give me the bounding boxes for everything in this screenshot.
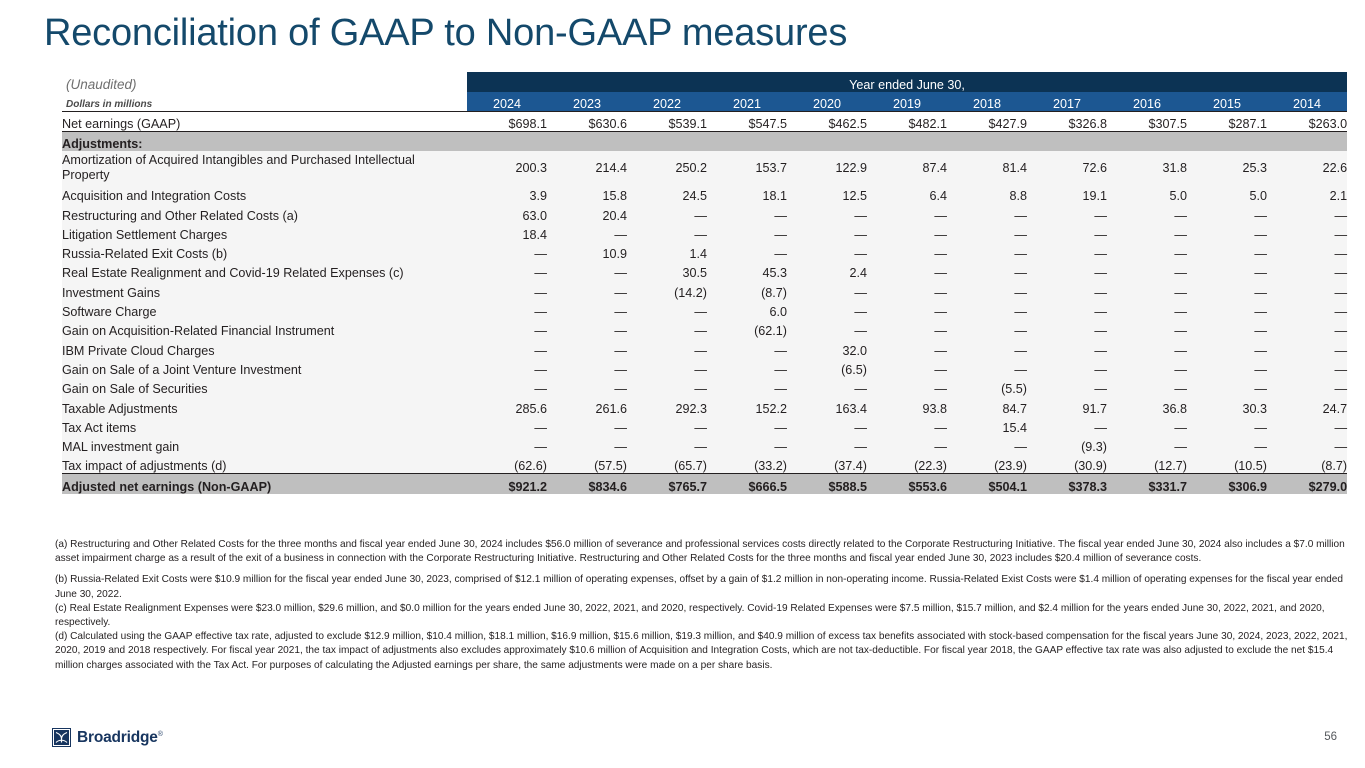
year-ended-header: Year ended June 30, bbox=[467, 72, 1347, 92]
page-title: Reconciliation of GAAP to Non-GAAP measu… bbox=[44, 12, 847, 55]
cell-2020: — bbox=[787, 300, 867, 319]
cell-2023: — bbox=[547, 319, 627, 338]
row-label: Software Charge bbox=[62, 300, 467, 319]
cell-2016: — bbox=[1107, 358, 1187, 377]
cell-2020: — bbox=[787, 203, 867, 222]
cell-2017: (30.9) bbox=[1027, 454, 1107, 474]
row-label: Investment Gains bbox=[62, 280, 467, 299]
cell-2024: — bbox=[467, 416, 547, 435]
table-row: MAL investment gain———————(9.3)——— bbox=[62, 435, 1347, 454]
cell-2024: — bbox=[467, 280, 547, 299]
cell-2017: — bbox=[1027, 223, 1107, 242]
cell-2018: (5.5) bbox=[947, 377, 1027, 396]
cell-2014: — bbox=[1267, 319, 1347, 338]
cell-2022: — bbox=[627, 319, 707, 338]
cell-2023: — bbox=[547, 435, 627, 454]
table-row: Amortization of Acquired Intangibles and… bbox=[62, 151, 1347, 184]
cell-2018: — bbox=[947, 261, 1027, 280]
cell-2024: 285.6 bbox=[467, 396, 547, 415]
cell-2024: 18.4 bbox=[467, 223, 547, 242]
cell-2023: — bbox=[547, 377, 627, 396]
cell-2019: — bbox=[867, 338, 947, 357]
table-row: Adjusted net earnings (Non-GAAP)$921.2$8… bbox=[62, 474, 1347, 495]
cell-2024: — bbox=[467, 377, 547, 396]
cell-2016: $331.7 bbox=[1107, 474, 1187, 495]
cell-2015: — bbox=[1187, 319, 1267, 338]
cell-2017: — bbox=[1027, 280, 1107, 299]
cell-2019: (22.3) bbox=[867, 454, 947, 474]
cell-2019: — bbox=[867, 223, 947, 242]
cell-2014: — bbox=[1267, 416, 1347, 435]
table-row: Adjustments: bbox=[62, 132, 1347, 152]
cell-2022: (65.7) bbox=[627, 454, 707, 474]
dollars-meta-cell: Dollars in millions bbox=[62, 92, 467, 112]
table-row: Restructuring and Other Related Costs (a… bbox=[62, 203, 1347, 222]
cell-2015: 25.3 bbox=[1187, 151, 1267, 184]
table-row: Russia-Related Exit Costs (b)—10.91.4———… bbox=[62, 242, 1347, 261]
cell-2020: 163.4 bbox=[787, 396, 867, 415]
cell-2018: 8.8 bbox=[947, 184, 1027, 203]
row-label: IBM Private Cloud Charges bbox=[62, 338, 467, 357]
cell-2020: — bbox=[787, 416, 867, 435]
table-row: Gain on Acquisition-Related Financial In… bbox=[62, 319, 1347, 338]
cell-2016: — bbox=[1107, 223, 1187, 242]
row-label: Restructuring and Other Related Costs (a… bbox=[62, 203, 467, 222]
cell-2014: — bbox=[1267, 338, 1347, 357]
cell-2024: — bbox=[467, 242, 547, 261]
cell-2019: — bbox=[867, 261, 947, 280]
cell-2020: $462.5 bbox=[787, 112, 867, 132]
cell-2022: 292.3 bbox=[627, 396, 707, 415]
cell-2017: 91.7 bbox=[1027, 396, 1107, 415]
cell-2022 bbox=[627, 132, 707, 152]
cell-2021: 152.2 bbox=[707, 396, 787, 415]
cell-2014: — bbox=[1267, 242, 1347, 261]
cell-2016 bbox=[1107, 132, 1187, 152]
cell-2017: 72.6 bbox=[1027, 151, 1107, 184]
table-row: Net earnings (GAAP)$698.1$630.6$539.1$54… bbox=[62, 112, 1347, 132]
cell-2024: $921.2 bbox=[467, 474, 547, 495]
cell-2021: — bbox=[707, 242, 787, 261]
year-header-2024: 2024 bbox=[467, 92, 547, 112]
cell-2022: 250.2 bbox=[627, 151, 707, 184]
cell-2018: — bbox=[947, 242, 1027, 261]
cell-2015: (10.5) bbox=[1187, 454, 1267, 474]
cell-2016: 31.8 bbox=[1107, 151, 1187, 184]
footnote-c: (c) Real Estate Realignment Expenses wer… bbox=[55, 602, 1350, 630]
broadridge-wordmark: Broadridge® bbox=[77, 729, 163, 747]
table-row: Real Estate Realignment and Covid-19 Rel… bbox=[62, 261, 1347, 280]
slide-root: Reconciliation of GAAP to Non-GAAP measu… bbox=[0, 0, 1365, 768]
cell-2018: $427.9 bbox=[947, 112, 1027, 132]
cell-2023: 261.6 bbox=[547, 396, 627, 415]
broadridge-mark-icon bbox=[52, 728, 71, 747]
table-row: Gain on Sale of a Joint Venture Investme… bbox=[62, 358, 1347, 377]
cell-2018: 84.7 bbox=[947, 396, 1027, 415]
broadridge-logo: Broadridge® bbox=[52, 728, 163, 747]
cell-2021: 153.7 bbox=[707, 151, 787, 184]
cell-2021: (33.2) bbox=[707, 454, 787, 474]
cell-2014: 24.7 bbox=[1267, 396, 1347, 415]
year-header-2019: 2019 bbox=[867, 92, 947, 112]
cell-2014 bbox=[1267, 132, 1347, 152]
cell-2020: — bbox=[787, 435, 867, 454]
year-header-2021: 2021 bbox=[707, 92, 787, 112]
reconciliation-table-container: (Unaudited) Year ended June 30, Dollars … bbox=[62, 72, 1347, 494]
cell-2024: 200.3 bbox=[467, 151, 547, 184]
cell-2015: $287.1 bbox=[1187, 112, 1267, 132]
cell-2017: — bbox=[1027, 319, 1107, 338]
cell-2019: 87.4 bbox=[867, 151, 947, 184]
cell-2014: — bbox=[1267, 203, 1347, 222]
cell-2016: — bbox=[1107, 377, 1187, 396]
cell-2015: — bbox=[1187, 203, 1267, 222]
cell-2023: — bbox=[547, 223, 627, 242]
cell-2015: — bbox=[1187, 261, 1267, 280]
table-row: Acquisition and Integration Costs3.915.8… bbox=[62, 184, 1347, 203]
cell-2021: — bbox=[707, 435, 787, 454]
cell-2017: — bbox=[1027, 358, 1107, 377]
cell-2023: — bbox=[547, 338, 627, 357]
cell-2020: $588.5 bbox=[787, 474, 867, 495]
cell-2020: — bbox=[787, 242, 867, 261]
cell-2021: — bbox=[707, 338, 787, 357]
cell-2015: — bbox=[1187, 242, 1267, 261]
cell-2022: — bbox=[627, 416, 707, 435]
table-row: Tax impact of adjustments (d)(62.6)(57.5… bbox=[62, 454, 1347, 474]
cell-2023: — bbox=[547, 280, 627, 299]
cell-2023: 20.4 bbox=[547, 203, 627, 222]
row-label: Amortization of Acquired Intangibles and… bbox=[62, 151, 467, 184]
cell-2024 bbox=[467, 132, 547, 152]
cell-2021: $666.5 bbox=[707, 474, 787, 495]
cell-2015 bbox=[1187, 132, 1267, 152]
table-header-years-row: Dollars in millions 2024 2023 2022 2021 … bbox=[62, 92, 1347, 112]
cell-2021: — bbox=[707, 358, 787, 377]
year-header-2015: 2015 bbox=[1187, 92, 1267, 112]
cell-2014: — bbox=[1267, 358, 1347, 377]
table-row: Investment Gains——(14.2)(8.7)——————— bbox=[62, 280, 1347, 299]
cell-2022: — bbox=[627, 358, 707, 377]
cell-2019: — bbox=[867, 242, 947, 261]
cell-2016: (12.7) bbox=[1107, 454, 1187, 474]
cell-2018: — bbox=[947, 435, 1027, 454]
cell-2015: 5.0 bbox=[1187, 184, 1267, 203]
cell-2014: — bbox=[1267, 300, 1347, 319]
table-header-span-row: (Unaudited) Year ended June 30, bbox=[62, 72, 1347, 92]
cell-2018: 15.4 bbox=[947, 416, 1027, 435]
table-row: Gain on Sale of Securities——————(5.5)———… bbox=[62, 377, 1347, 396]
cell-2021: — bbox=[707, 203, 787, 222]
row-label: Acquisition and Integration Costs bbox=[62, 184, 467, 203]
cell-2015: — bbox=[1187, 377, 1267, 396]
row-label: Tax Act items bbox=[62, 416, 467, 435]
cell-2016: — bbox=[1107, 416, 1187, 435]
dollars-in-millions-label: Dollars in millions bbox=[62, 98, 467, 111]
cell-2019: 6.4 bbox=[867, 184, 947, 203]
cell-2018: — bbox=[947, 300, 1027, 319]
unaudited-meta-cell: (Unaudited) bbox=[62, 72, 467, 92]
cell-2019: 93.8 bbox=[867, 396, 947, 415]
cell-2017: — bbox=[1027, 203, 1107, 222]
cell-2020: 2.4 bbox=[787, 261, 867, 280]
footnote-a: (a) Restructuring and Other Related Cost… bbox=[55, 538, 1350, 566]
cell-2023: 10.9 bbox=[547, 242, 627, 261]
row-label: Russia-Related Exit Costs (b) bbox=[62, 242, 467, 261]
table-row: IBM Private Cloud Charges————32.0—————— bbox=[62, 338, 1347, 357]
cell-2015: — bbox=[1187, 223, 1267, 242]
cell-2016: — bbox=[1107, 300, 1187, 319]
cell-2020: 122.9 bbox=[787, 151, 867, 184]
cell-2017: 19.1 bbox=[1027, 184, 1107, 203]
row-label: Litigation Settlement Charges bbox=[62, 223, 467, 242]
cell-2015: — bbox=[1187, 416, 1267, 435]
page-number: 56 bbox=[1324, 731, 1337, 743]
table-body: (Unaudited) Year ended June 30, Dollars … bbox=[62, 72, 1347, 494]
cell-2016: — bbox=[1107, 261, 1187, 280]
cell-2017: — bbox=[1027, 261, 1107, 280]
cell-2016: — bbox=[1107, 435, 1187, 454]
row-label: Gain on Acquisition-Related Financial In… bbox=[62, 319, 467, 338]
cell-2014: 22.6 bbox=[1267, 151, 1347, 184]
row-label: Gain on Sale of a Joint Venture Investme… bbox=[62, 358, 467, 377]
cell-2020: (37.4) bbox=[787, 454, 867, 474]
footnotes-block: (a) Restructuring and Other Related Cost… bbox=[55, 538, 1350, 673]
cell-2014: — bbox=[1267, 377, 1347, 396]
cell-2020: — bbox=[787, 319, 867, 338]
cell-2021: 18.1 bbox=[707, 184, 787, 203]
cell-2018: 81.4 bbox=[947, 151, 1027, 184]
row-label: MAL investment gain bbox=[62, 435, 467, 454]
year-header-2016: 2016 bbox=[1107, 92, 1187, 112]
cell-2024: 63.0 bbox=[467, 203, 547, 222]
cell-2017: (9.3) bbox=[1027, 435, 1107, 454]
cell-2020: — bbox=[787, 377, 867, 396]
cell-2019: — bbox=[867, 300, 947, 319]
cell-2014: (8.7) bbox=[1267, 454, 1347, 474]
cell-2015: — bbox=[1187, 280, 1267, 299]
cell-2018: — bbox=[947, 203, 1027, 222]
cell-2020: 32.0 bbox=[787, 338, 867, 357]
cell-2015: — bbox=[1187, 435, 1267, 454]
year-header-2020: 2020 bbox=[787, 92, 867, 112]
cell-2024: — bbox=[467, 261, 547, 280]
row-label: Adjusted net earnings (Non-GAAP) bbox=[62, 474, 467, 495]
cell-2016: $307.5 bbox=[1107, 112, 1187, 132]
cell-2022: — bbox=[627, 435, 707, 454]
cell-2014: — bbox=[1267, 435, 1347, 454]
footnote-b: (b) Russia-Related Exit Costs were $10.9… bbox=[55, 573, 1350, 601]
cell-2020: (6.5) bbox=[787, 358, 867, 377]
cell-2023: (57.5) bbox=[547, 454, 627, 474]
cell-2023: — bbox=[547, 416, 627, 435]
cell-2015: $306.9 bbox=[1187, 474, 1267, 495]
year-header-2014: 2014 bbox=[1267, 92, 1347, 112]
cell-2020: — bbox=[787, 223, 867, 242]
year-header-2018: 2018 bbox=[947, 92, 1027, 112]
cell-2019: — bbox=[867, 435, 947, 454]
cell-2017: $378.3 bbox=[1027, 474, 1107, 495]
row-label: Taxable Adjustments bbox=[62, 396, 467, 415]
cell-2016: 5.0 bbox=[1107, 184, 1187, 203]
row-label: Adjustments: bbox=[62, 132, 467, 152]
cell-2015: 30.3 bbox=[1187, 396, 1267, 415]
cell-2016: 36.8 bbox=[1107, 396, 1187, 415]
cell-2014: — bbox=[1267, 261, 1347, 280]
cell-2019: — bbox=[867, 416, 947, 435]
table-row: Taxable Adjustments285.6261.6292.3152.21… bbox=[62, 396, 1347, 415]
registered-mark: ® bbox=[158, 730, 163, 737]
cell-2016: — bbox=[1107, 203, 1187, 222]
cell-2023: 15.8 bbox=[547, 184, 627, 203]
year-header-2017: 2017 bbox=[1027, 92, 1107, 112]
cell-2016: — bbox=[1107, 280, 1187, 299]
cell-2023: 214.4 bbox=[547, 151, 627, 184]
cell-2021: — bbox=[707, 223, 787, 242]
cell-2021: (8.7) bbox=[707, 280, 787, 299]
unaudited-label: (Unaudited) bbox=[62, 77, 467, 92]
year-header-2022: 2022 bbox=[627, 92, 707, 112]
row-label: Gain on Sale of Securities bbox=[62, 377, 467, 396]
cell-2017: — bbox=[1027, 377, 1107, 396]
cell-2024: — bbox=[467, 319, 547, 338]
cell-2015: — bbox=[1187, 300, 1267, 319]
cell-2021: 6.0 bbox=[707, 300, 787, 319]
cell-2019: $553.6 bbox=[867, 474, 947, 495]
cell-2020: 12.5 bbox=[787, 184, 867, 203]
cell-2019 bbox=[867, 132, 947, 152]
cell-2015: — bbox=[1187, 338, 1267, 357]
cell-2019: — bbox=[867, 319, 947, 338]
cell-2017: — bbox=[1027, 242, 1107, 261]
row-label: Real Estate Realignment and Covid-19 Rel… bbox=[62, 261, 467, 280]
cell-2014: — bbox=[1267, 223, 1347, 242]
cell-2018: (23.9) bbox=[947, 454, 1027, 474]
cell-2024: $698.1 bbox=[467, 112, 547, 132]
cell-2017 bbox=[1027, 132, 1107, 152]
cell-2021: — bbox=[707, 416, 787, 435]
cell-2023: — bbox=[547, 261, 627, 280]
cell-2014: — bbox=[1267, 280, 1347, 299]
cell-2019: — bbox=[867, 203, 947, 222]
cell-2015: — bbox=[1187, 358, 1267, 377]
cell-2021: (62.1) bbox=[707, 319, 787, 338]
cell-2014: $263.0 bbox=[1267, 112, 1347, 132]
cell-2023: — bbox=[547, 300, 627, 319]
cell-2018: — bbox=[947, 338, 1027, 357]
cell-2018: — bbox=[947, 223, 1027, 242]
cell-2023 bbox=[547, 132, 627, 152]
cell-2019: — bbox=[867, 377, 947, 396]
cell-2014: $279.0 bbox=[1267, 474, 1347, 495]
table-row: Software Charge———6.0——————— bbox=[62, 300, 1347, 319]
cell-2016: — bbox=[1107, 338, 1187, 357]
table-row: Litigation Settlement Charges18.4———————… bbox=[62, 223, 1347, 242]
cell-2022: $765.7 bbox=[627, 474, 707, 495]
row-label: Tax impact of adjustments (d) bbox=[62, 454, 467, 474]
cell-2019: — bbox=[867, 358, 947, 377]
cell-2016: — bbox=[1107, 319, 1187, 338]
table-row: Tax Act items——————15.4———— bbox=[62, 416, 1347, 435]
cell-2021 bbox=[707, 132, 787, 152]
cell-2014: 2.1 bbox=[1267, 184, 1347, 203]
cell-2017: — bbox=[1027, 416, 1107, 435]
cell-2020: — bbox=[787, 280, 867, 299]
cell-2019: — bbox=[867, 280, 947, 299]
cell-2018 bbox=[947, 132, 1027, 152]
cell-2022: — bbox=[627, 203, 707, 222]
cell-2023: $834.6 bbox=[547, 474, 627, 495]
cell-2024: — bbox=[467, 435, 547, 454]
cell-2018: — bbox=[947, 358, 1027, 377]
cell-2016: — bbox=[1107, 242, 1187, 261]
cell-2022: (14.2) bbox=[627, 280, 707, 299]
cell-2017: — bbox=[1027, 300, 1107, 319]
cell-2018: $504.1 bbox=[947, 474, 1027, 495]
cell-2017: $326.8 bbox=[1027, 112, 1107, 132]
cell-2024: (62.6) bbox=[467, 454, 547, 474]
cell-2022: — bbox=[627, 300, 707, 319]
cell-2019: $482.1 bbox=[867, 112, 947, 132]
cell-2022: 24.5 bbox=[627, 184, 707, 203]
cell-2018: — bbox=[947, 280, 1027, 299]
cell-2022: — bbox=[627, 338, 707, 357]
cell-2022: 1.4 bbox=[627, 242, 707, 261]
cell-2018: — bbox=[947, 319, 1027, 338]
cell-2024: 3.9 bbox=[467, 184, 547, 203]
cell-2023: — bbox=[547, 358, 627, 377]
cell-2022: $539.1 bbox=[627, 112, 707, 132]
cell-2017: — bbox=[1027, 338, 1107, 357]
footnote-d: (d) Calculated using the GAAP effective … bbox=[55, 630, 1350, 673]
cell-2022: — bbox=[627, 223, 707, 242]
row-label: Net earnings (GAAP) bbox=[62, 112, 467, 132]
cell-2024: — bbox=[467, 338, 547, 357]
cell-2021: $547.5 bbox=[707, 112, 787, 132]
cell-2024: — bbox=[467, 300, 547, 319]
cell-2021: 45.3 bbox=[707, 261, 787, 280]
reconciliation-table: (Unaudited) Year ended June 30, Dollars … bbox=[62, 72, 1347, 494]
cell-2022: 30.5 bbox=[627, 261, 707, 280]
year-header-2023: 2023 bbox=[547, 92, 627, 112]
cell-2023: $630.6 bbox=[547, 112, 627, 132]
cell-2020 bbox=[787, 132, 867, 152]
cell-2022: — bbox=[627, 377, 707, 396]
cell-2024: — bbox=[467, 358, 547, 377]
cell-2021: — bbox=[707, 377, 787, 396]
